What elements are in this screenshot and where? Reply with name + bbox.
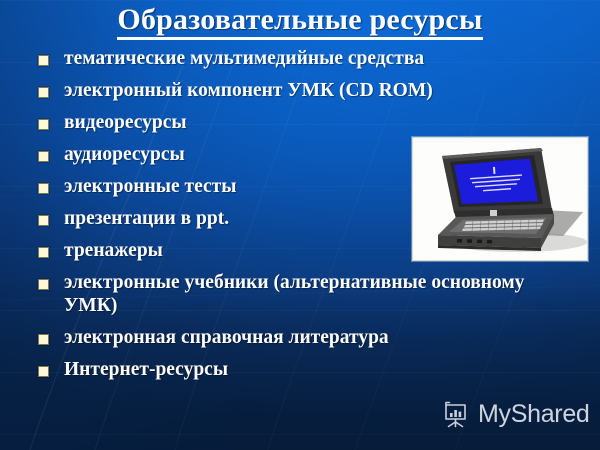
list-item: электронные тесты xyxy=(22,175,542,198)
list-item-label: электронные тесты xyxy=(64,175,236,198)
watermark-label: MyShared xyxy=(478,402,590,427)
list-item: аудиоресурсы xyxy=(22,143,542,166)
list-item-label: Интернет-ресурсы xyxy=(64,358,228,381)
presentation-slide: Образовательные ресурсы тематические мул… xyxy=(0,0,600,450)
bullet-square-icon xyxy=(38,215,49,226)
list-item-label: видеоресурсы xyxy=(64,111,187,134)
list-item: видеоресурсы xyxy=(22,111,542,134)
list-item-label: электронные учебники (альтернативные осн… xyxy=(64,271,542,317)
title-container: Образовательные ресурсы xyxy=(0,4,600,40)
bullet-square-icon xyxy=(38,151,49,162)
list-item: тренажеры xyxy=(22,239,542,262)
page-title: Образовательные ресурсы xyxy=(117,4,482,40)
list-item: презентации в ppt. xyxy=(22,207,542,230)
list-item-label: электронный компонент УМК (CD ROM) xyxy=(64,79,433,102)
list-item-label: аудиоресурсы xyxy=(64,143,185,166)
bullet-square-icon xyxy=(38,247,49,258)
list-item-label: тренажеры xyxy=(64,239,163,262)
bullet-square-icon xyxy=(38,87,49,98)
list-item: электронная справочная литература xyxy=(22,326,542,349)
bullet-square-icon xyxy=(38,119,49,130)
bullet-square-icon xyxy=(38,334,49,345)
list-item: электронные учебники (альтернативные осн… xyxy=(22,271,542,317)
presentation-chart-icon xyxy=(441,399,471,429)
list-item: Интернет-ресурсы xyxy=(22,358,542,381)
list-item-label: презентации в ppt. xyxy=(64,207,229,230)
list-item: электронный компонент УМК (CD ROM) xyxy=(22,79,542,102)
myshared-watermark: MyShared xyxy=(441,399,590,429)
bullet-square-icon xyxy=(38,55,49,66)
bullet-square-icon xyxy=(38,366,49,377)
bullet-square-icon xyxy=(38,183,49,194)
bullet-list: тематические мультимедийные средства эле… xyxy=(22,47,542,390)
list-item: тематические мультимедийные средства xyxy=(22,47,542,70)
list-item-label: тематические мультимедийные средства xyxy=(64,47,424,70)
bullet-square-icon xyxy=(38,279,49,290)
list-item-label: электронная справочная литература xyxy=(64,326,389,349)
